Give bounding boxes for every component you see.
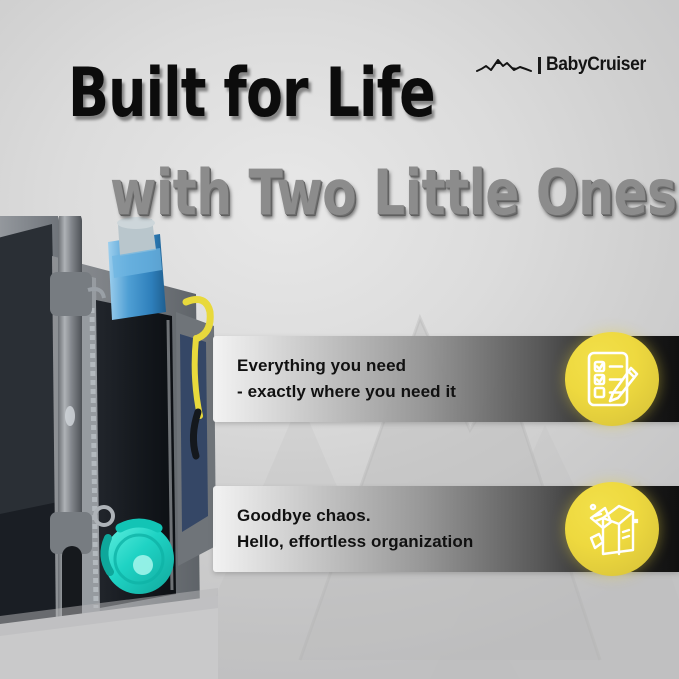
feature-2-line-2: Hello, effortless organization <box>237 529 473 555</box>
feature-2-icon-badge <box>565 482 659 576</box>
feature-1-line-1: Everything you need <box>237 353 456 379</box>
brand-name: BabyCruiser <box>546 54 646 76</box>
brand-divider <box>538 57 541 74</box>
headline-line-2: with Two Little Ones <box>110 162 676 224</box>
feature-1-text: Everything you need - exactly where you … <box>237 353 456 405</box>
feature-2-line-1: Goodbye chaos. <box>237 503 473 529</box>
feature-1-icon-badge <box>565 332 659 426</box>
brand-logo: BabyCruiser <box>476 52 655 78</box>
promotional-poster: BabyCruiser Built for Life with Two Litt… <box>0 0 679 679</box>
feature-1-line-2: - exactly where you need it <box>237 379 456 405</box>
product-photo <box>0 216 218 679</box>
headline-line-1: Built for Life <box>68 60 435 128</box>
mountain-range-icon <box>476 55 532 75</box>
checklist-pencil-icon <box>581 348 643 410</box>
feature-2-text: Goodbye chaos. Hello, effortless organiz… <box>237 503 473 555</box>
file-organizer-icon <box>581 498 643 560</box>
